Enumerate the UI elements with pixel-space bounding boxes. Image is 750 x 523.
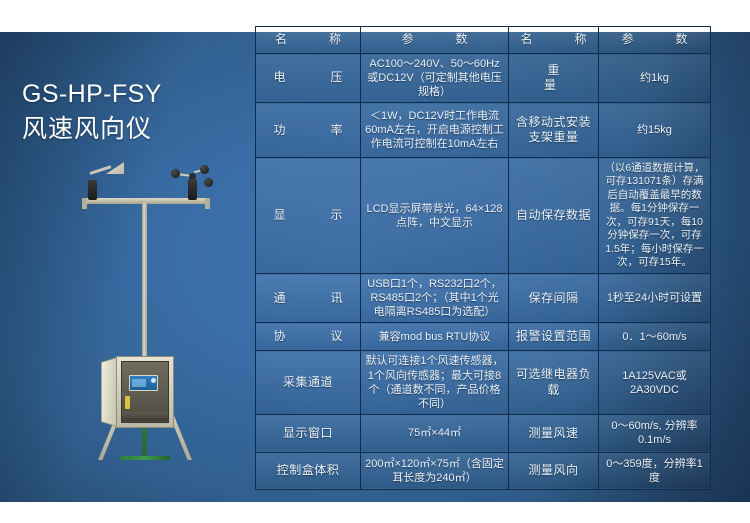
row-display-window-name: 显示窗口 bbox=[256, 414, 361, 452]
header-param-left: 参 数 bbox=[361, 27, 509, 54]
row-channels-value: 默认可连接1个风速传感器，1个风向传感器；最大可接8个（通道数不同，产品价格不同… bbox=[361, 351, 509, 414]
header-name-left: 名 称 bbox=[256, 27, 361, 54]
row-power-name: 功 率 bbox=[256, 103, 361, 158]
table-row: 显示窗口 75㎡×44㎡ 测量风速 0～60m/s, 分辨率0.1m/s bbox=[256, 414, 711, 452]
product-intro-column: GS-HP-FSY 风速风向仪 bbox=[0, 0, 252, 470]
row-wind-direction-value: 0～359度，分辨率1度 bbox=[599, 452, 711, 489]
table-row: 采集通道 默认可连接1个风速传感器，1个风向传感器；最大可接8个（通道数不同，产… bbox=[256, 351, 711, 414]
product-model: GS-HP-FSY bbox=[22, 78, 162, 111]
row-weight-name: 重 量 bbox=[509, 54, 599, 103]
mast-part bbox=[142, 202, 147, 357]
header-name-right: 名 称 bbox=[509, 27, 599, 54]
row-wind-speed-value: 0～60m/s, 分辨率0.1m/s bbox=[599, 414, 711, 452]
product-photo bbox=[30, 160, 242, 460]
row-save-interval-value: 1秒至24小时可设置 bbox=[599, 274, 711, 323]
row-voltage-name: 电 压 bbox=[256, 54, 361, 103]
table-row: 协 议 兼容mod bus RTU协议 报警设置范围 0．1～60m/s bbox=[256, 323, 711, 351]
row-protocol-name: 协 议 bbox=[256, 323, 361, 351]
row-weight-value: 约1kg bbox=[599, 54, 711, 103]
row-relay-load-name: 可选继电器负载 bbox=[509, 351, 599, 414]
table-row: 功 率 ＜1W，DC12V时工作电流60mA左右，开启电源控制工作电流可控制在1… bbox=[256, 103, 711, 158]
row-bracket-weight-name: 含移动式安装支架重量 bbox=[509, 103, 599, 158]
row-voltage-value: AC100～240V、50～60Hz或DC12V（可定制其他电压规格） bbox=[361, 54, 509, 103]
tripod-right-leg-part bbox=[170, 415, 201, 460]
row-protocol-value: 兼容mod bus RTU协议 bbox=[361, 323, 509, 351]
control-box-wire-part bbox=[125, 396, 130, 409]
table-row: 通 讯 USB口1个，RS232口2个，RS485口2个；（其中1个光电隔离RS… bbox=[256, 274, 711, 323]
lcd-indicator-part bbox=[151, 378, 156, 383]
row-wind-speed-name: 测量风速 bbox=[509, 414, 599, 452]
row-box-volume-value: 200㎡×120㎡×75㎡（含固定耳长度为240㎡） bbox=[361, 452, 509, 489]
lcd-text-part bbox=[132, 379, 146, 387]
anemometer-cup-part bbox=[171, 169, 180, 178]
row-alarm-range-value: 0．1～60m/s bbox=[599, 323, 711, 351]
product-name: 风速风向仪 bbox=[22, 113, 162, 146]
row-display-window-value: 75㎡×44㎡ bbox=[361, 414, 509, 452]
crossarm-right-end-part bbox=[205, 198, 210, 209]
row-communication-name: 通 讯 bbox=[256, 274, 361, 323]
row-autosave-value: （以6通道数据计算，可存131071条）存满后自动覆盖最早的数据。每1分钟保存一… bbox=[599, 158, 711, 274]
row-wind-direction-name: 测量风向 bbox=[509, 452, 599, 489]
row-power-value: ＜1W，DC12V时工作电流60mA左右，开启电源控制工作电流可控制在10mA左… bbox=[361, 103, 509, 158]
anemometer-sensor-part bbox=[188, 179, 197, 200]
table-row: 显 示 LCD显示屏带背光，64×128点阵，中文显示 自动保存数据 （以6通道… bbox=[256, 158, 711, 274]
row-bracket-weight-value: 约15kg bbox=[599, 103, 711, 158]
table-row: 电 压 AC100～240V、50～60Hz或DC12V（可定制其他电压规格） … bbox=[256, 54, 711, 103]
control-box-door-part bbox=[101, 357, 117, 427]
anemometer-cup-part bbox=[204, 178, 213, 187]
row-communication-value: USB口1个，RS232口2个，RS485口2个；（其中1个光电隔离RS485口… bbox=[361, 274, 509, 323]
row-alarm-range-name: 报警设置范围 bbox=[509, 323, 599, 351]
row-display-name: 显 示 bbox=[256, 158, 361, 274]
control-box-base-part bbox=[122, 412, 168, 421]
row-save-interval-name: 保存间隔 bbox=[509, 274, 599, 323]
crossarm-left-end-part bbox=[82, 198, 87, 209]
slide-page: GS-HP-FSY 风速风向仪 bbox=[0, 0, 750, 523]
tripod-brace-part bbox=[120, 456, 170, 460]
anemometer-cup-part bbox=[200, 165, 209, 174]
table-row: 控制盒体积 200㎡×120㎡×75㎡（含固定耳长度为240㎡） 测量风向 0～… bbox=[256, 452, 711, 489]
row-autosave-name: 自动保存数据 bbox=[509, 158, 599, 274]
row-display-value: LCD显示屏带背光，64×128点阵，中文显示 bbox=[361, 158, 509, 274]
row-relay-load-value: 1A125VAC或2A30VDC bbox=[599, 351, 711, 414]
header-param-right: 参 数 bbox=[599, 27, 711, 54]
row-channels-name: 采集通道 bbox=[256, 351, 361, 414]
product-title-block: GS-HP-FSY 风速风向仪 bbox=[22, 78, 162, 146]
table-header-row: 名 称 参 数 名 称 参 数 bbox=[256, 27, 711, 54]
wind-vane-sensor-part bbox=[88, 180, 97, 200]
row-box-volume-name: 控制盒体积 bbox=[256, 452, 361, 489]
specifications-table: 名 称 参 数 名 称 参 数 电 压 AC100～240V、50～60Hz或D… bbox=[255, 26, 711, 490]
